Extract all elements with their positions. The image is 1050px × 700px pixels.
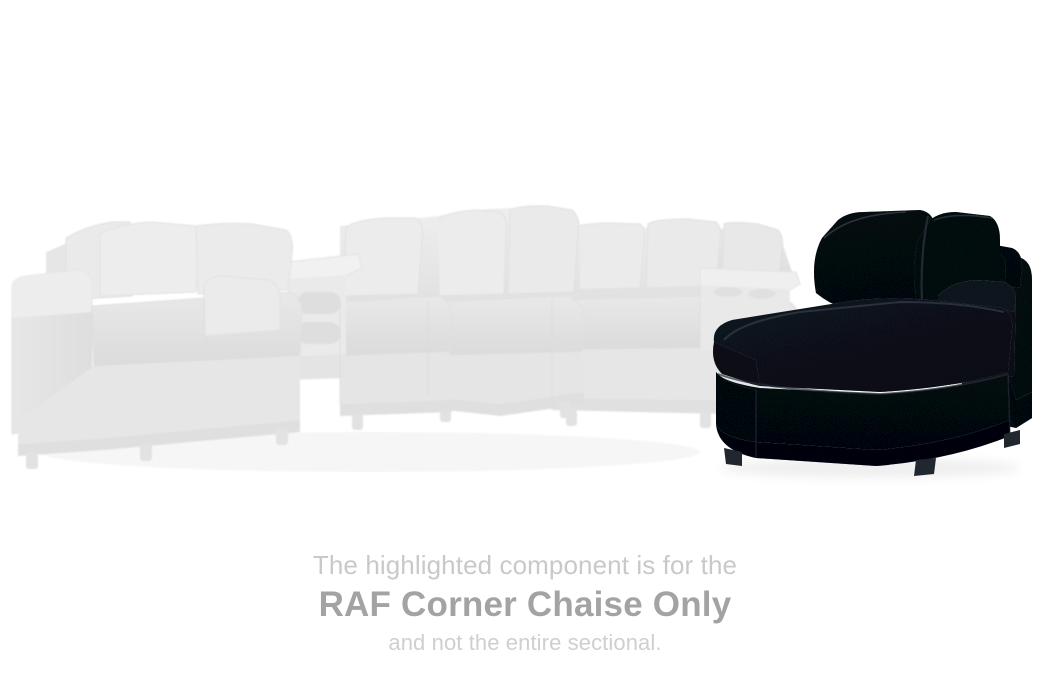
caption-line-2-product-name: RAF Corner Chaise Only <box>0 582 1050 628</box>
caption-line-3: and not the entire sectional. <box>0 628 1050 658</box>
ghost-cup-holder-lower <box>297 322 341 344</box>
product-image-page: The highlighted component is for the RAF… <box>0 0 1050 700</box>
caption-line-1: The highlighted component is for the <box>0 548 1050 582</box>
ghost-armless-chair-left <box>338 216 452 430</box>
ghost-cup-holder-upper <box>297 292 341 314</box>
caption-block: The highlighted component is for the RAF… <box>0 548 1050 658</box>
chaise-leg-front-right <box>914 458 936 476</box>
ghost-laf-recliner <box>12 222 302 469</box>
